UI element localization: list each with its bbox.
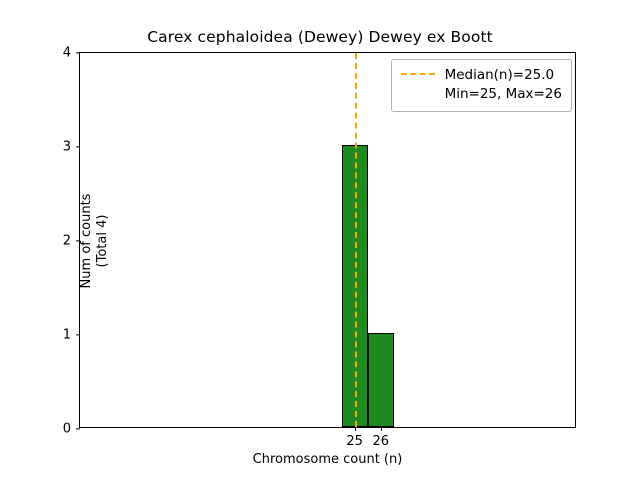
legend: Median(n)=25.0 Min=25, Max=26: [391, 59, 572, 112]
y-tick-label: 2: [63, 234, 71, 249]
x-tick-label: 25: [346, 434, 363, 449]
y-tick-mark: [76, 334, 80, 335]
y-tick-mark: [76, 428, 80, 429]
y-tick-mark: [76, 240, 80, 241]
x-axis-label: Chromosome count (n): [79, 452, 576, 467]
y-tick-label: 1: [63, 328, 71, 343]
y-axis-label: Num of counts (Total 4): [78, 53, 112, 429]
bar: [368, 333, 394, 427]
x-tick-label: 26: [373, 434, 390, 449]
x-tick-mark: [381, 427, 382, 431]
x-tick-mark: [355, 427, 356, 431]
legend-median-swatch-icon: [401, 73, 435, 75]
plot-area: Num of counts (Total 4) 01234 2526 Media…: [79, 52, 576, 428]
y-tick-mark: [76, 52, 80, 53]
chart-canvas: Carex cephaloidea (Dewey) Dewey ex Boott…: [0, 0, 640, 480]
chart-title: Carex cephaloidea (Dewey) Dewey ex Boott: [0, 28, 640, 46]
y-tick-mark: [76, 146, 80, 147]
legend-label: Median(n)=25.0 Min=25, Max=26: [445, 66, 562, 104]
median-line: [355, 53, 357, 427]
y-tick-label: 4: [63, 46, 71, 61]
y-tick-label: 3: [63, 140, 71, 155]
y-tick-label: 0: [63, 422, 71, 437]
